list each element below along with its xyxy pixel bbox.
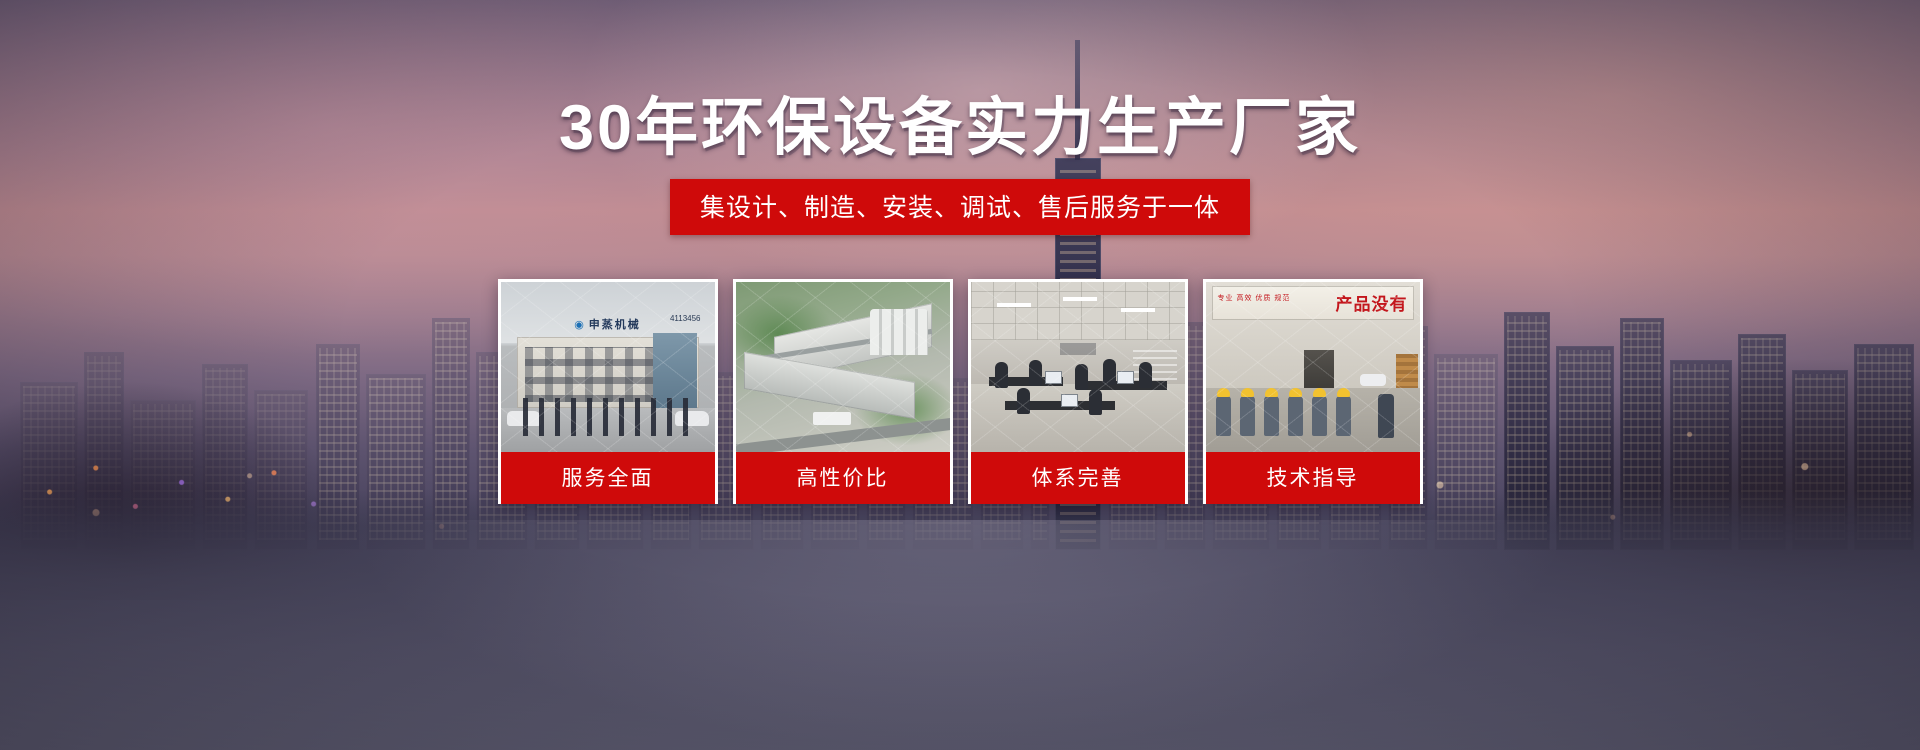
card-photo-plant: [736, 282, 950, 452]
card-photo-headquarters: ◉申蒸机械 4113456: [501, 282, 715, 452]
workshop-banner-small-text: 专业 高效 优质 规范: [1218, 294, 1291, 305]
card-label: 技术指导: [1206, 452, 1420, 504]
workshop-banner: 专业 高效 优质 规范 产品没有: [1212, 286, 1414, 320]
card-photo-workshop: 专业 高效 优质 规范 产品没有: [1206, 282, 1420, 452]
building-signage-number: 4113456: [670, 314, 701, 323]
building-signage: ◉申蒸机械: [574, 316, 641, 332]
card-label: 体系完善: [971, 452, 1185, 504]
feature-card[interactable]: 高性价比: [733, 279, 953, 504]
feature-card[interactable]: 专业 高效 优质 规范 产品没有: [1203, 279, 1423, 504]
banner-subtitle-badge: 集设计、制造、安装、调试、售后服务于一体: [670, 179, 1250, 235]
banner-headline: 30年环保设备实力生产厂家: [559, 95, 1361, 161]
banner-content: 30年环保设备实力生产厂家 集设计、制造、安装、调试、售后服务于一体 ◉申蒸机械…: [0, 0, 1920, 750]
workshop-banner-main-text: 产品没有: [1336, 290, 1408, 315]
hero-banner: 30年环保设备实力生产厂家 集设计、制造、安装、调试、售后服务于一体 ◉申蒸机械…: [0, 0, 1920, 750]
feature-card[interactable]: ◉申蒸机械 4113456 服务全面: [498, 279, 718, 504]
feature-card-list: ◉申蒸机械 4113456 服务全面: [498, 279, 1423, 504]
card-photo-office: [971, 282, 1185, 452]
feature-card[interactable]: 体系完善: [968, 279, 1188, 504]
card-label: 服务全面: [501, 452, 715, 504]
card-label: 高性价比: [736, 452, 950, 504]
